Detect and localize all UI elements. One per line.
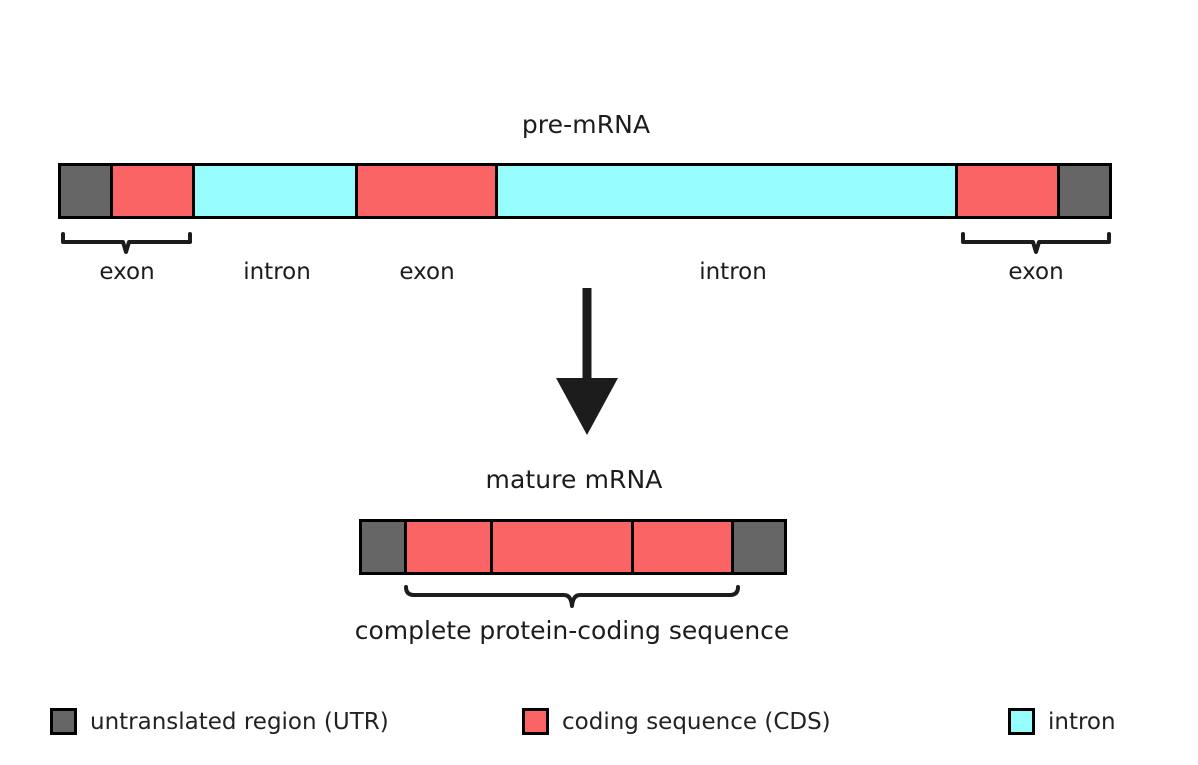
exon-brace-right [960, 230, 1115, 256]
pre-mrna-label-exon-2: exon [399, 261, 454, 284]
legend-label-utr: untranslated region (UTR) [90, 709, 389, 735]
legend-item-cds: coding sequence (CDS) [522, 708, 831, 735]
legend-label-intron: intron [1048, 709, 1116, 735]
pre-mrna-label-intron-2: intron [699, 261, 767, 284]
mature-mrna-segment-utr-3prime [734, 522, 784, 572]
square-swatch-intron-icon [1008, 708, 1035, 735]
square-swatch-cds-icon [522, 708, 549, 735]
pre-mrna-segment-intron-1 [195, 166, 358, 216]
legend-item-intron: intron [1008, 708, 1116, 735]
pre-mrna-bar [58, 163, 1112, 219]
pre-mrna-label-intron-1: intron [243, 261, 311, 284]
mature-mrna-segment-cds-3 [634, 522, 734, 572]
diagram-canvas: pre-mRNA exon intron exon intron exon ma… [0, 0, 1198, 765]
square-swatch-utr-icon [50, 708, 77, 735]
mature-mrna-segment-cds-2 [493, 522, 634, 572]
mature-mrna-segment-utr-5prime [362, 522, 407, 572]
mature-mrna-segment-cds-1 [407, 522, 493, 572]
pre-mrna-segment-cds-1 [113, 166, 196, 216]
splicing-arrow-icon [552, 288, 622, 438]
pre-mrna-title: pre-mRNA [522, 112, 650, 137]
pre-mrna-segment-utr-5prime [61, 166, 113, 216]
mature-mrna-bar [359, 519, 787, 575]
mature-mrna-title: mature mRNA [485, 467, 662, 492]
pre-mrna-label-exon-1: exon [99, 261, 154, 284]
legend-item-utr: untranslated region (UTR) [50, 708, 389, 735]
coding-sequence-brace [402, 583, 742, 613]
pre-mrna-segment-cds-3 [958, 166, 1060, 216]
pre-mrna-label-exon-3: exon [1008, 261, 1063, 284]
coding-sequence-caption: complete protein-coding sequence [355, 618, 790, 643]
pre-mrna-segment-cds-2 [358, 166, 497, 216]
legend-label-cds: coding sequence (CDS) [562, 709, 831, 735]
pre-mrna-segment-utr-3prime [1060, 166, 1109, 216]
pre-mrna-segment-intron-2 [498, 166, 958, 216]
exon-brace-left [60, 230, 196, 256]
